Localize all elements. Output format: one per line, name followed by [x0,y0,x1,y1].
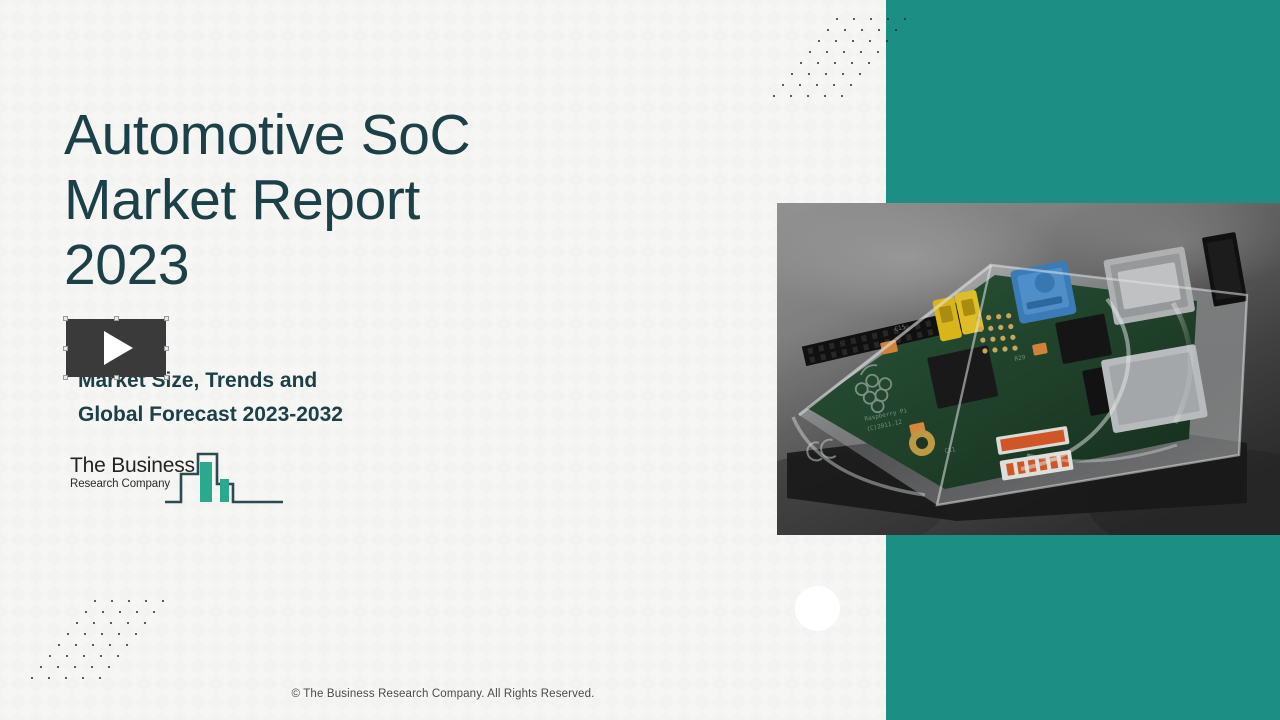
decorative-dot [126,644,128,646]
decorative-dot [40,666,42,668]
decorative-dot [851,62,853,64]
decorative-dot [809,51,811,53]
decorative-dot [85,611,87,613]
decorative-dot [57,666,59,668]
selection-handle-top-right[interactable] [164,316,169,321]
copyright-footer: © The Business Research Company. All Rig… [0,688,886,700]
decorative-dot [135,633,137,635]
decorative-dot [852,40,854,42]
decorative-dot [818,40,820,42]
decorative-dot [144,622,146,624]
decorative-dot [782,84,784,86]
decorative-dot [101,633,103,635]
decorative-dot [887,18,889,20]
decorative-dot [826,51,828,53]
decorative-dot [109,644,111,646]
decorative-dot [48,677,50,679]
decorative-dot [111,600,113,602]
selection-handle-top-center[interactable] [114,316,119,321]
decorative-dot [82,677,84,679]
raspberry-pi-photo-illustration: Raspberry Pi (C)2011.12 R29 C15 C11 [777,203,1280,535]
play-icon [104,331,133,365]
selection-handle-bottom-left[interactable] [63,375,68,380]
hero-photo: Raspberry Pi (C)2011.12 R29 C15 C11 [777,203,1280,535]
decorative-dot [807,95,809,97]
decorative-dot [65,677,67,679]
decorative-dot [835,40,837,42]
decorative-dot [834,62,836,64]
decorative-dot [84,633,86,635]
decorative-dot [843,51,845,53]
decorative-dot [869,40,871,42]
selection-handle-middle-left[interactable] [63,346,68,351]
decorative-dot [833,84,835,86]
video-play-button[interactable] [66,319,166,377]
decorative-dot [800,62,802,64]
selection-handle-top-left[interactable] [63,316,68,321]
decorative-dot [108,666,110,668]
decorative-dot [853,18,855,20]
decorative-dot [128,600,130,602]
decorative-dot [145,600,147,602]
decorative-dot [67,633,69,635]
decorative-dot [102,611,104,613]
decorative-dot [49,655,51,657]
decorative-dot [74,666,76,668]
decorative-dot-grid-top-right [792,18,872,110]
company-logo: The Business Research Company [70,446,285,508]
decorative-dot [153,611,155,613]
decorative-dot [861,29,863,31]
decorative-dot [100,655,102,657]
decorative-dot [860,51,862,53]
decorative-dot [118,633,120,635]
decorative-dot [93,622,95,624]
decorative-circle [795,586,840,631]
decorative-dot [119,611,121,613]
decorative-dot [859,73,861,75]
decorative-dot [886,40,888,42]
decorative-dot [868,62,870,64]
decorative-dot [117,655,119,657]
decorative-dot [825,73,827,75]
decorative-dot [878,29,880,31]
decorative-dot [92,644,94,646]
decorative-dot [850,84,852,86]
decorative-dot [870,18,872,20]
decorative-dot [816,84,818,86]
decorative-dot [31,677,33,679]
decorative-dot [790,95,792,97]
decorative-dot [66,655,68,657]
decorative-dot [836,18,838,20]
decorative-dot [773,95,775,97]
decorative-dot [799,84,801,86]
selection-handle-middle-right[interactable] [164,346,169,351]
decorative-dot [895,29,897,31]
decorative-dot [904,18,906,20]
selection-handle-bottom-center[interactable] [114,375,119,380]
decorative-dot [136,611,138,613]
decorative-dot [58,644,60,646]
decorative-dot [827,29,829,31]
decorative-dot [817,62,819,64]
decorative-dot [808,73,810,75]
decorative-dot [110,622,112,624]
decorative-dot [824,95,826,97]
decorative-dot [94,600,96,602]
page-title: Automotive SoC Market Report 2023 [64,103,664,298]
decorative-dot [76,622,78,624]
selection-handle-bottom-right[interactable] [164,375,169,380]
decorative-dot [791,73,793,75]
decorative-dot [127,622,129,624]
decorative-dot [877,51,879,53]
decorative-dot-grid-bottom-left [50,600,130,692]
decorative-dot [91,666,93,668]
logo-bar-chart-icon [165,446,285,508]
decorative-dot [83,655,85,657]
decorative-dot [162,600,164,602]
decorative-dot [842,73,844,75]
decorative-dot [841,95,843,97]
decorative-dot [99,677,101,679]
decorative-dot [75,644,77,646]
decorative-dot [844,29,846,31]
slide-canvas: Automotive SoC Market Report 2023 Market… [0,0,1280,720]
